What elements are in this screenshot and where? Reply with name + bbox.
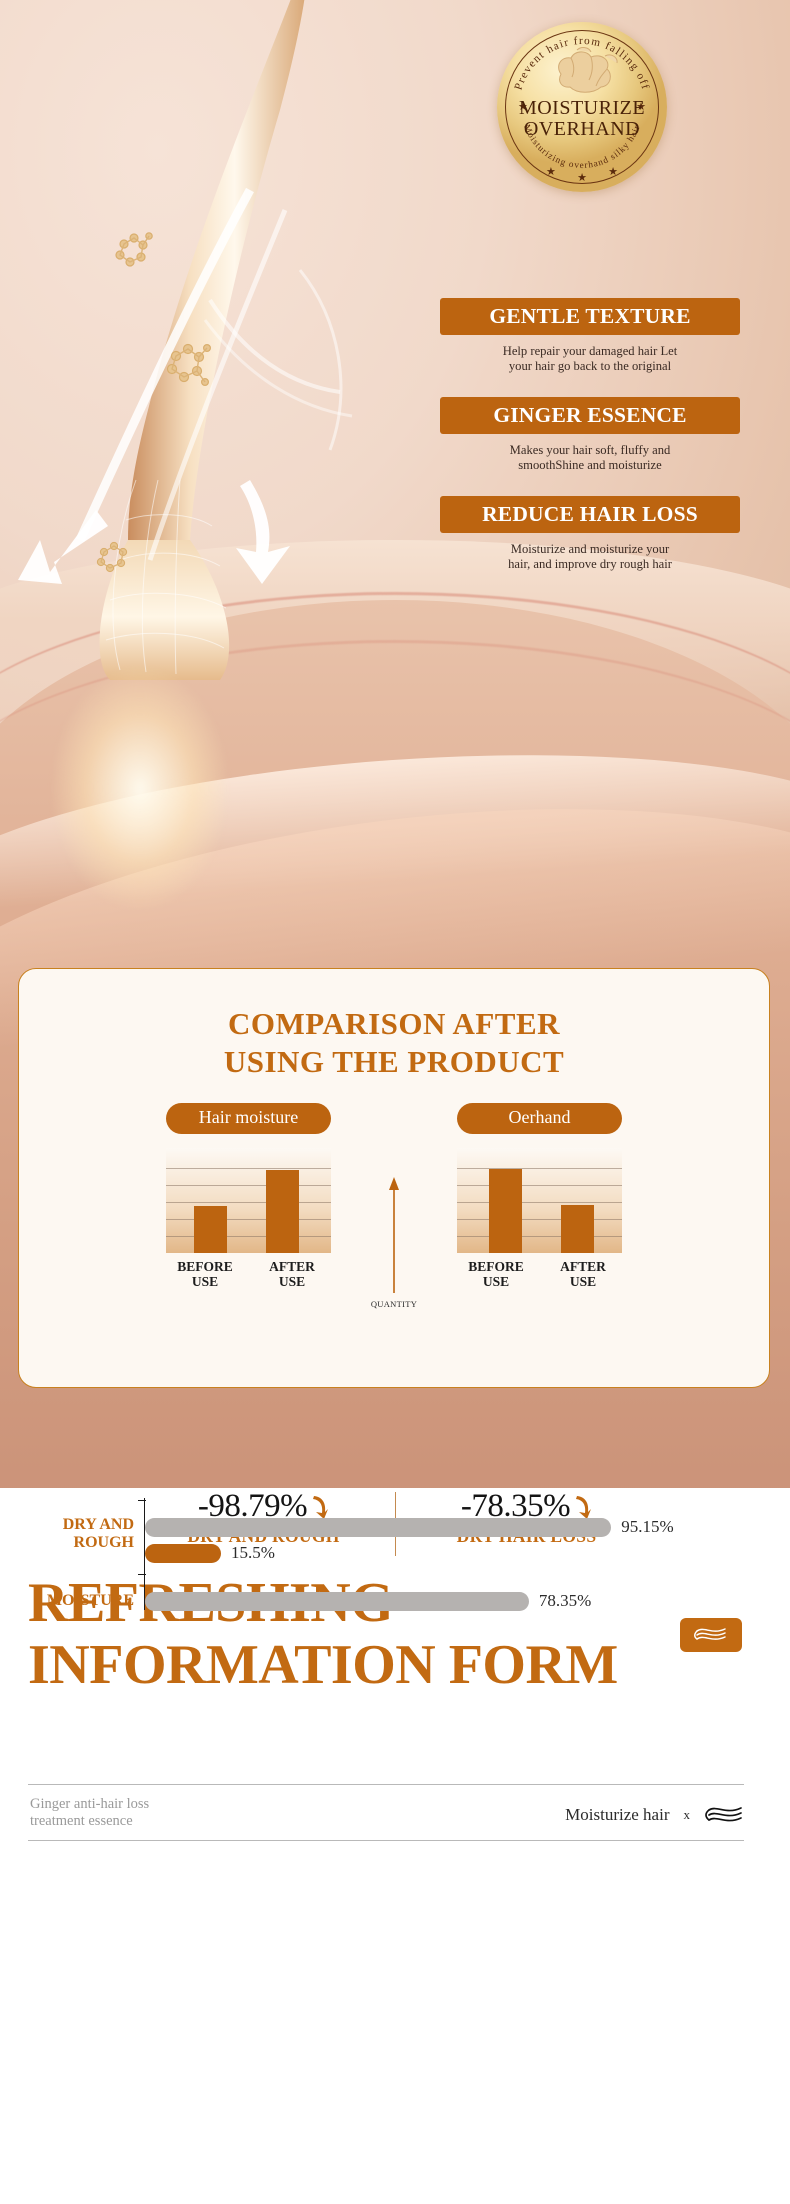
feature-title[interactable]: REDUCE HAIR LOSS <box>440 496 740 533</box>
axis-tick <box>138 1500 146 1501</box>
chart-row-label-moisture: MOISTURE <box>24 1592 134 1610</box>
chart-row-label-dry-and-rough: DRY AND ROUGH <box>24 1516 134 1552</box>
molecule-icon <box>90 538 138 580</box>
bar-grey-moisture <box>145 1592 529 1611</box>
badge-title: MOISTURIZE OVERHAND <box>497 98 667 140</box>
axis-tick <box>138 1574 146 1575</box>
bar-grey-dry-and-rough <box>145 1518 611 1537</box>
badge-title-line1: MOISTURIZE <box>497 98 667 119</box>
flow-arrow-right <box>236 480 290 584</box>
comparison-card: COMPARISON AFTER USING THE PRODUCT Hair … <box>18 968 770 1388</box>
quantity-axis: QUANTITY <box>361 1103 427 1289</box>
horizontal-bar-chart: DRY AND ROUGH 95.15% 15.5% MOISTURE 78.3… <box>0 1488 790 1608</box>
feature-desc-line2: your hair go back to the original <box>440 359 740 374</box>
feature-title[interactable]: GINGER ESSENCE <box>440 397 740 434</box>
divider-top <box>28 1784 744 1785</box>
comparison-axis-labels: BEFOREUSE AFTERUSE <box>427 1259 652 1289</box>
comparison-title-line1: COMPARISON AFTER <box>19 1005 769 1043</box>
quantity-label: QUANTITY <box>371 1299 417 1309</box>
comparison-title-line2: USING THE PRODUCT <box>19 1043 769 1081</box>
comparison-panel-hair-moisture: Hair moisture BEFOREUSE AFTERUSE <box>136 1103 361 1289</box>
badge-star-icon: ★ <box>546 165 556 178</box>
feature-description: Moisturize and moisturize your hair, and… <box>440 542 740 572</box>
comparison-title: COMPARISON AFTER USING THE PRODUCT <box>19 969 769 1081</box>
feature-item-reduce-hair-loss: REDUCE HAIR LOSS Moisturize and moisturi… <box>440 496 740 572</box>
bar-after-use <box>561 1205 594 1253</box>
page-title-line2: INFORMATION FORM <box>28 1634 748 1696</box>
bar-orange-dry-and-rough <box>145 1544 221 1563</box>
badge-star-icon: ★ <box>608 165 618 178</box>
feature-description: Help repair your damaged hair Let your h… <box>440 344 740 374</box>
product-subtitle-line2: treatment essence <box>30 1813 149 1830</box>
molecule-icon <box>158 340 216 392</box>
product-subtitle: Ginger anti-hair loss treatment essence <box>30 1796 149 1830</box>
tagline-text: Moisturize hair <box>565 1805 669 1825</box>
feature-desc-line1: Moisturize and moisturize your <box>440 542 740 557</box>
comparison-panel-label: Oerhand <box>457 1103 622 1134</box>
feature-desc-line1: Help repair your damaged hair Let <box>440 344 740 359</box>
feature-desc-line1: Makes your hair soft, fluffy and <box>440 443 740 458</box>
information-section: REFRESHING INFORMATION FORM Ginger anti-… <box>0 1488 790 2204</box>
product-tagline: Moisturize hair x <box>565 1804 744 1826</box>
feature-description: Makes your hair soft, fluffy and smoothS… <box>440 443 740 473</box>
comparison-plot <box>166 1148 331 1253</box>
comparison-charts-row: Hair moisture BEFOREUSE AFTERUSE <box>19 1103 769 1289</box>
comparison-panel-label: Hair moisture <box>166 1103 331 1134</box>
bar-before-use <box>489 1169 522 1253</box>
ginger-root-icon <box>541 44 623 96</box>
bar-before-use <box>194 1206 227 1253</box>
comparison-plot <box>457 1148 622 1253</box>
feature-desc-line2: hair, and improve dry rough hair <box>440 557 740 572</box>
comparison-panel-oerhand: Oerhand BEFOREUSE AFTERUSE <box>427 1103 652 1289</box>
badge-star-icon: ★ <box>577 171 587 184</box>
feature-list: GENTLE TEXTURE Help repair your damaged … <box>440 298 740 595</box>
label-before-use: BEFOREUSE <box>174 1259 236 1289</box>
wavy-hair-icon <box>704 1804 744 1826</box>
bar-value-orange: 15.5% <box>231 1543 275 1563</box>
feature-title[interactable]: GENTLE TEXTURE <box>440 298 740 335</box>
product-subtitle-line1: Ginger anti-hair loss <box>30 1796 149 1813</box>
label-after-use: AFTERUSE <box>261 1259 323 1289</box>
bar-after-use <box>266 1170 299 1253</box>
hero-section: Prevent hair from falling off Moisturizi… <box>0 0 790 1488</box>
divider-bottom <box>28 1840 744 1841</box>
comparison-axis-labels: BEFOREUSE AFTERUSE <box>136 1259 361 1289</box>
label-before-use: BEFOREUSE <box>465 1259 527 1289</box>
bar-value-grey: 78.35% <box>539 1591 591 1611</box>
badge-title-line2: OVERHAND <box>497 119 667 140</box>
brand-logo <box>680 1618 742 1652</box>
feature-item-ginger-essence: GINGER ESSENCE Makes your hair soft, flu… <box>440 397 740 473</box>
bar-value-grey: 95.15% <box>621 1517 673 1537</box>
feature-desc-line2: smoothShine and moisturize <box>440 458 740 473</box>
wavy-hair-icon <box>694 1625 728 1645</box>
label-after-use: AFTERUSE <box>552 1259 614 1289</box>
follicle-glow <box>20 640 260 970</box>
molecule-icon <box>108 230 156 274</box>
product-seal-badge: Prevent hair from falling off Moisturizi… <box>497 22 667 192</box>
tagline-x: x <box>684 1807 691 1823</box>
feature-item-gentle-texture: GENTLE TEXTURE Help repair your damaged … <box>440 298 740 374</box>
up-arrow-icon <box>387 1175 401 1295</box>
